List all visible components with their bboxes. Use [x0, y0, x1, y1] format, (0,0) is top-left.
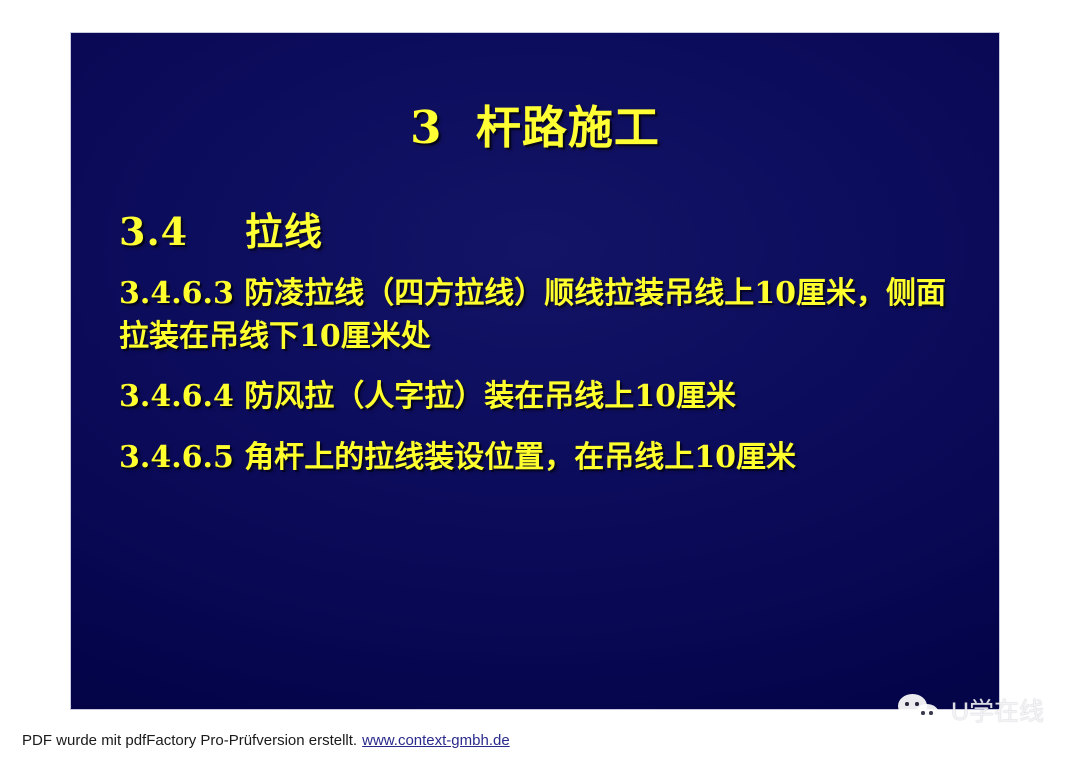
pdf-footer-notice: PDF wurde mit pdfFactory Pro-Prüfversion…: [22, 732, 510, 749]
footer-link[interactable]: www.context-gmbh.de: [362, 732, 510, 749]
slide-body: 3.4.6.3 防凌拉线（四方拉线）顺线拉装吊线上10厘米，侧面拉装在吊线下10…: [119, 273, 961, 479]
bubble-eye: [929, 711, 933, 715]
slide-title: 3 杆路施工: [71, 91, 999, 156]
footer-text: PDF wurde mit pdfFactory Pro-Prüfversion…: [22, 732, 357, 749]
bubble-eye: [921, 711, 925, 715]
slide-canvas: 3 杆路施工 3.4 拉线 3.4.6.3 防凌拉线（四方拉线）顺线拉装吊线上1…: [70, 32, 1000, 710]
body-paragraph-1: 3.4.6.3 防凌拉线（四方拉线）顺线拉装吊线上10厘米，侧面拉装在吊线下10…: [119, 273, 961, 358]
body-paragraph-2: 3.4.6.4 防风拉（人字拉）装在吊线上10厘米: [119, 376, 961, 419]
body-paragraph-3: 3.4.6.5 角杆上的拉线装设位置，在吊线上10厘米: [119, 437, 961, 480]
slide-subtitle: 3.4 拉线: [119, 201, 323, 256]
